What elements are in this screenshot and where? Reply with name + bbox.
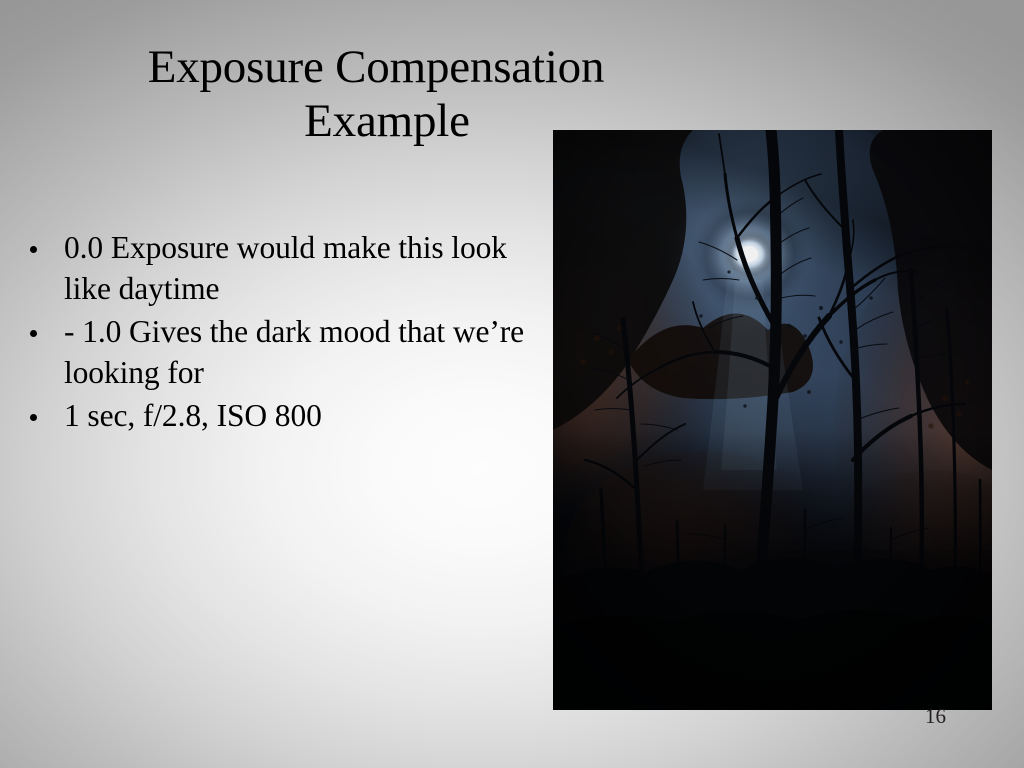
list-item: - 1.0 Gives the dark mood that we’re loo… — [18, 312, 538, 394]
bullet-dot-icon — [30, 330, 37, 337]
slide: Exposure Compensation Example 0.0 Exposu… — [0, 0, 1024, 768]
list-item: 1 sec, f/2.8, ISO 800 — [18, 396, 538, 437]
list-item: 0.0 Exposure would make this look like d… — [18, 228, 538, 310]
slide-number: 16 — [925, 706, 946, 727]
list-item-label: 1 sec, f/2.8, ISO 800 — [64, 398, 322, 433]
night-forest-photo: Night forest photograph: full moon glowi… — [553, 130, 992, 710]
bullet-dot-icon — [30, 246, 37, 253]
bullet-dot-icon — [30, 414, 37, 421]
list-item-label: - 1.0 Gives the dark mood that we’re loo… — [64, 314, 524, 390]
list-item-label: 0.0 Exposure would make this look like d… — [64, 230, 507, 306]
title-line-1: Exposure Compensation — [46, 44, 706, 92]
night-forest-illustration: Night forest photograph: full moon glowi… — [553, 130, 992, 710]
bullet-list: 0.0 Exposure would make this look like d… — [18, 228, 538, 439]
